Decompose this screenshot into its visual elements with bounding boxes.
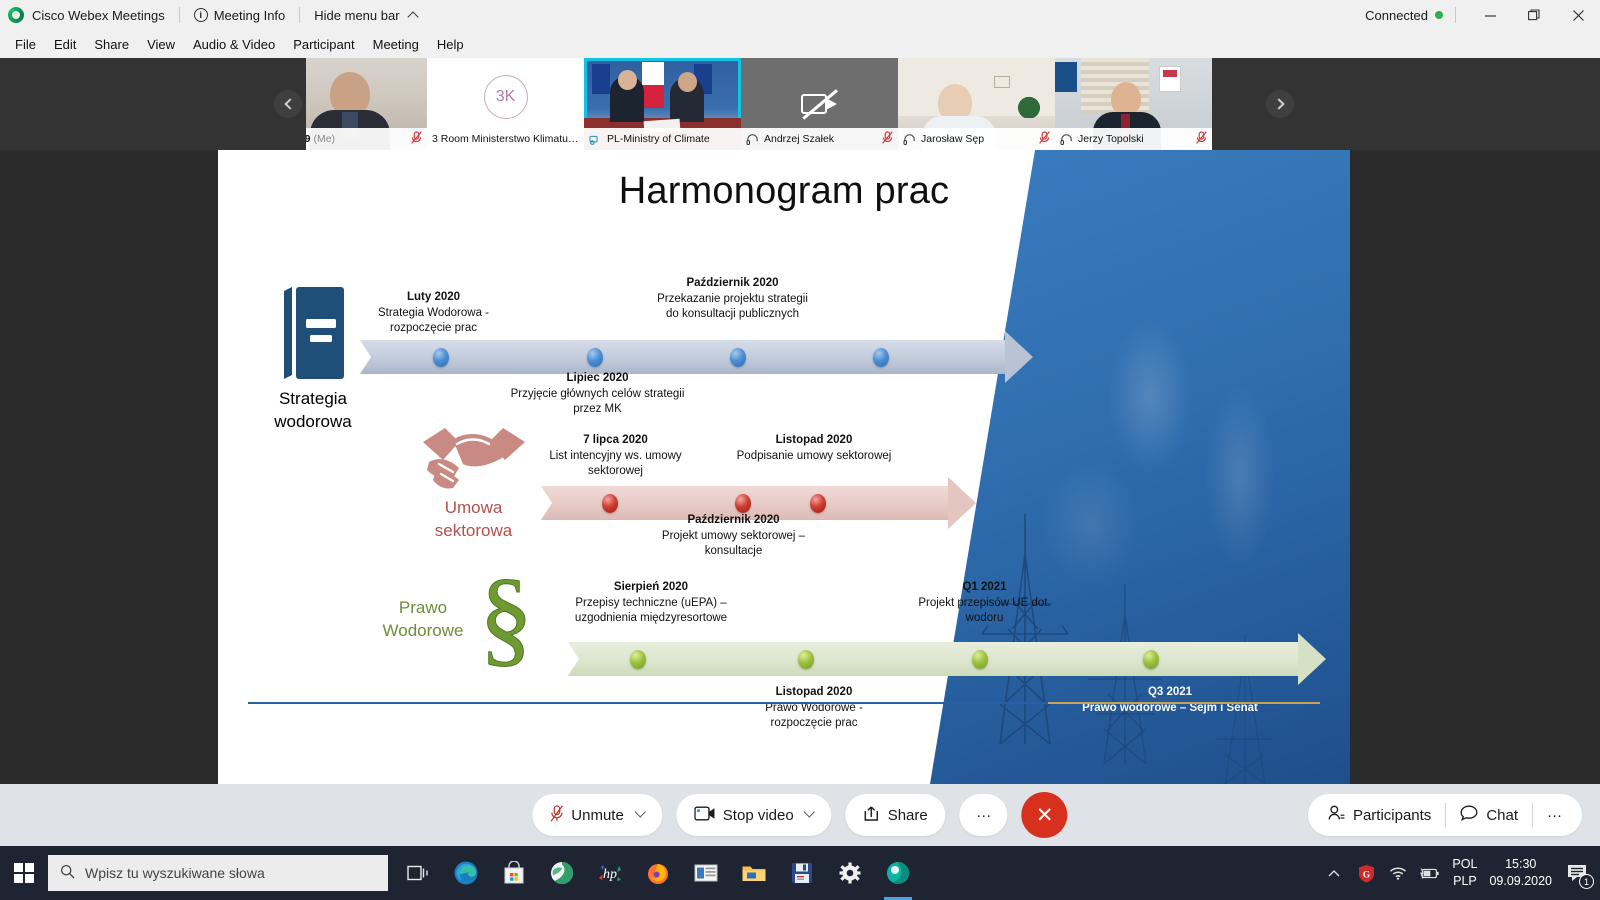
note-date: Październik 2020 [656,513,811,528]
note-date: 7 lipca 2020 [523,433,708,448]
menu-label: Participant [293,37,354,52]
timeline-note: Luty 2020 Strategia Wodorowa - rozpoczęc… [356,290,511,337]
timeline-row-umowa: Umowa sektorowa 7 lipca 2020 List intenc… [218,428,1350,568]
poland-flag [642,62,664,108]
chat-button[interactable]: Chat [1446,802,1532,828]
person-head [1111,82,1141,116]
clock[interactable]: 15:30 09.09.2020 [1489,856,1552,890]
webex-logo-icon [8,7,24,23]
timeline-note: Q3 2021 Prawo wodorowe – Sejm i Senat [1070,685,1270,716]
antivirus-shield-icon[interactable]: G [1356,863,1376,883]
participants-button[interactable]: Participants [1314,802,1445,828]
row-icon-block: § [470,557,542,674]
close-icon: ✕ [1036,803,1054,828]
timeline-note: Listopad 2020 Prawo Wodorowe - rozpoczęc… [734,685,894,732]
timeline-dot [735,494,751,513]
handshake-icon [419,420,529,492]
note-text: Projekt przepisów UE dot. wodoru [918,597,1050,624]
menu-label: Meeting [373,37,419,52]
timeline-dot [602,494,618,513]
note-date: Q1 2021 [902,580,1067,595]
search-icon [60,864,75,882]
svg-text:G: G [1363,870,1371,880]
headset-icon [746,134,759,145]
divider [1455,7,1456,23]
note-text: Podpisanie umowy sektorowej [737,450,892,462]
more-dots-icon: ··· [976,807,991,824]
mic-off-icon [550,805,563,826]
note-date: Listopad 2020 [734,433,894,448]
thumbnail-label: Jerzy Topolski [1055,128,1212,150]
timeline-dot [730,348,746,367]
note-text: Przyjęcie głównych celów strategii przez… [511,388,685,415]
hp-icon[interactable]: hp [586,846,634,900]
timeline-dot [798,650,814,669]
note-text: List intencyjny ws. umowy sektorowej [549,450,681,477]
note-text: Prawo Wodorowe - rozpoczęcie prac [765,702,863,729]
divider [299,7,300,23]
taskbar-apps: hp [394,846,922,900]
timeline-note: Lipiec 2020 Przyjęcie głównych celów str… [510,371,685,418]
webex-icon[interactable] [874,846,922,900]
wifi-icon[interactable] [1388,863,1408,883]
mic-off-icon [1039,131,1050,147]
participant-thumbnail[interactable]: 3K 3 Room Ministerstwo Klimatu (Host) [427,58,584,150]
share-button[interactable]: Share [846,794,946,836]
hide-menu-bar-button[interactable]: Hide menu bar [314,8,416,23]
meeting-info-button[interactable]: i Meeting Info [194,8,286,23]
share-icon [864,805,880,826]
note-date: Sierpień 2020 [551,580,751,595]
participant-thumbnail-active[interactable]: PL-Ministry of Climate [584,58,741,150]
meeting-info-label: Meeting Info [214,8,286,23]
chevron-left-icon [284,98,295,109]
end-meeting-button[interactable]: ✕ [1022,792,1068,838]
menu-label: Help [437,37,464,52]
more-options-button[interactable]: ··· [960,794,1008,836]
participant-thumbnail[interactable]: Andrzej Szałek [741,58,898,150]
system-tray: G POL PLP [1324,846,1600,900]
language-indicator[interactable]: POL PLP [1452,856,1477,890]
timeline-arrow-green [563,642,1298,676]
menu-label: Share [94,37,129,52]
timeline-row-strategia: Strategia wodorowa Luty 2020 Strategia W… [218,280,1350,410]
initials-text: 3K [496,88,516,106]
search-input[interactable]: Wpisz tu wyszukiwane słowa [48,855,388,891]
note-text: Projekt umowy sektorowej – konsultacje [662,530,805,557]
clock-date: 09.09.2020 [1489,873,1552,890]
stop-video-button[interactable]: Stop video [676,794,832,836]
camera-off-icon [801,90,839,118]
menu-label: Edit [54,37,76,52]
chevron-right-icon [1273,98,1284,109]
clock-time: 15:30 [1489,856,1552,873]
timeline-dot [972,650,988,669]
timeline-row-prawo: Prawo Wodorowe § [218,565,1350,725]
menu-label: File [15,37,36,52]
svg-text:§: § [479,558,533,669]
participant-name: PL-Ministry of Climate [607,133,710,145]
timeline-note: Październik 2020 Przekazanie projektu st… [655,276,810,323]
search-placeholder: Wpisz tu wyszukiwane słowa [85,865,265,881]
person-head [678,72,697,92]
minimize-button[interactable] [1468,0,1512,30]
windows-logo-icon [14,863,34,883]
caption-line: Prawo [358,597,488,620]
menu-item-audio-video[interactable]: Audio & Video [184,33,284,56]
connection-status-label: Connected [1365,8,1428,23]
chat-icon [1460,805,1478,825]
unmute-button[interactable]: Unmute [532,794,662,836]
file-explorer-icon[interactable] [730,846,778,900]
thumbnail-label: PL-Ministry of Climate [584,128,741,150]
divider [179,7,180,23]
participant-filmstrip: 379 (Me) 3K 3 Room Ministerstwo Klimatu … [0,58,1600,150]
row-caption: Strategia wodorowa [228,388,398,434]
paragraph-icon: § [470,557,542,669]
person-head [618,70,637,90]
timeline-note: Q1 2021 Projekt przepisów UE dot. wodoru [902,580,1067,627]
menu-item-share[interactable]: Share [85,33,138,56]
close-button[interactable] [1556,0,1600,30]
chat-label: Chat [1486,807,1518,824]
shared-content-stage: Harmonogram prac Strategia wodorowa [0,150,1600,784]
timeline-note: 7 lipca 2020 List intencyjny ws. umowy s… [523,433,708,480]
status-dot-icon [1435,11,1443,19]
unmute-label: Unmute [571,807,624,824]
app-title: Cisco Webex Meetings [32,8,165,23]
participants-icon [1328,805,1345,825]
note-date: Listopad 2020 [734,685,894,700]
connection-status: Connected [1365,8,1443,23]
menu-item-help[interactable]: Help [428,33,473,56]
more-right-button[interactable]: ··· [1533,802,1576,828]
menu-item-participant[interactable]: Participant [284,33,363,56]
thumbnail-label: Andrzej Szałek [741,128,898,150]
timeline-dot [873,348,889,367]
row-caption: Prawo Wodorowe [358,597,488,643]
presentation-slide: Harmonogram prac Strategia wodorowa [218,150,1350,784]
timeline-arrow-blue [355,340,1005,374]
news-widget-icon[interactable] [682,846,730,900]
timeline-dot [630,650,646,669]
note-text: Strategia Wodorowa - rozpoczęcie prac [378,307,489,334]
thumbnail-label: Jarosław Sęp [898,128,1055,150]
info-icon: i [194,8,208,22]
windows-taskbar: Wpisz tu wyszukiwane słowa [0,846,1600,900]
slide-divider-right [1048,702,1320,704]
participant-name: 3 Room Ministerstwo Klimatu (Host) [432,133,579,145]
note-date: Październik 2020 [655,276,810,291]
meeting-control-bar: Unmute Stop video [0,784,1600,846]
timeline-note: Październik 2020 Projekt umowy sektorowe… [656,513,811,560]
note-text: Przepisy techniczne (uEPA) – uzgodnienia… [575,597,727,624]
timeline-note: Listopad 2020 Podpisanie umowy sektorowe… [734,433,894,464]
more-dots-icon: ··· [1547,807,1562,824]
chevron-down-icon[interactable] [804,806,815,817]
lang-line-2: PLP [1452,873,1477,890]
participant-thumbnail[interactable]: Jarosław Sęp [898,58,1055,150]
slide-divider-left [248,702,1048,704]
start-button[interactable] [0,846,48,900]
settings-gear-icon[interactable] [826,846,874,900]
note-date: Luty 2020 [356,290,511,305]
share-label: Share [888,807,928,824]
page-title: Harmonogram prac [218,170,1350,213]
camera-icon [694,806,715,825]
mic-off-icon [1196,131,1207,147]
note-date: Lipiec 2020 [510,371,685,386]
stop-video-label: Stop video [723,807,794,824]
menu-item-file[interactable]: File [6,33,45,56]
menu-bar: File Edit Share View Audio & Video Parti… [0,30,1600,58]
headset-icon [903,134,916,145]
filmstrip-next-button[interactable] [1262,58,1298,150]
participant-thumbnail[interactable]: Jerzy Topolski [1055,58,1212,150]
filmstrip-prev-button[interactable] [270,58,306,150]
chevron-down-icon[interactable] [634,806,645,817]
timeline-dot [1143,650,1159,669]
participants-label: Participants [1353,807,1431,824]
thumbnail-label: 3 Room Ministerstwo Klimatu (Host) [427,128,584,150]
timeline-dot [433,348,449,367]
notification-badge: 1 [1579,874,1594,889]
battery-charging-icon[interactable] [1420,863,1440,883]
notification-center-button[interactable]: 1 [1564,860,1590,886]
edge-icon[interactable] [442,846,490,900]
mic-off-icon [411,131,422,147]
book-icon [272,283,354,383]
participant-name: Jarosław Sęp [921,133,984,145]
row-caption-block: Prawo Wodorowe [358,597,488,643]
menu-item-edit[interactable]: Edit [45,33,85,56]
caption-line: Wodorowe [358,620,488,643]
filmstrip-left-pad [0,58,270,150]
chevron-up-icon [407,11,418,22]
menu-label: View [147,37,175,52]
note-date: Q3 2021 [1070,685,1270,700]
show-hidden-icons-icon[interactable] [1324,863,1344,883]
firefox-icon[interactable] [634,846,682,900]
timeline-note: Sierpień 2020 Przepisy techniczne (uEPA)… [551,580,751,627]
svg-text:hp: hp [603,867,617,882]
caption-line: Strategia [228,388,398,411]
note-text: Przekazanie projektu strategii do konsul… [657,293,808,320]
save-app-icon[interactable] [778,846,826,900]
participant-name: Jerzy Topolski [1078,133,1144,145]
timeline-dot [587,348,603,367]
eu-flag [592,64,610,94]
green-globe-app-icon[interactable] [538,846,586,900]
lang-line-1: POL [1452,856,1477,873]
mic-off-icon [882,131,893,147]
timeline-dot [810,494,826,513]
avatar-initials: 3K [484,75,528,119]
participant-name: Andrzej Szałek [764,133,834,145]
menu-item-meeting[interactable]: Meeting [364,33,428,56]
menu-label: Audio & Video [193,37,275,52]
menu-item-view[interactable]: View [138,33,184,56]
microsoft-store-icon[interactable] [490,846,538,900]
maximize-restore-button[interactable] [1512,0,1556,30]
headset-icon [1060,134,1073,145]
speaker-icon [589,134,602,145]
window-title-bar: Cisco Webex Meetings i Meeting Info Hide… [0,0,1600,30]
hide-menu-bar-label: Hide menu bar [314,8,399,23]
task-view-icon[interactable] [394,846,442,900]
